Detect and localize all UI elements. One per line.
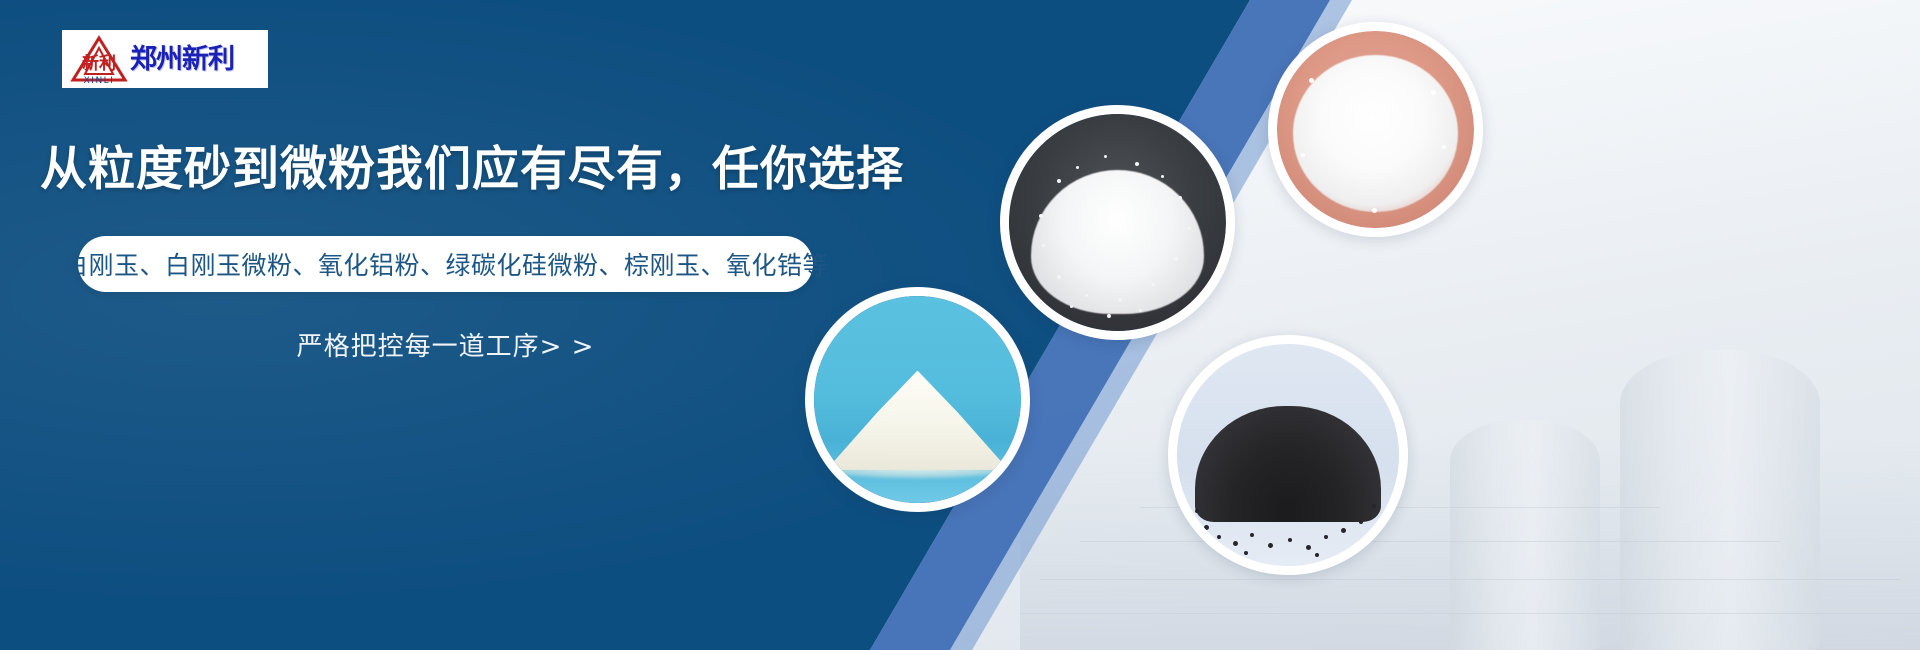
cooling-tower-icon [1620, 350, 1820, 650]
product-image-white-sand [1009, 114, 1226, 331]
headline: 从粒度砂到微粉我们应有尽有，任你选择 [40, 142, 904, 197]
logo-mark-top-text: 新利 [82, 53, 116, 74]
cooling-tower-icon [1450, 420, 1600, 650]
products-pill: 白刚玉、白刚玉微粉、氧化铝粉、绿碳化硅微粉、棕刚玉、氧化锆等 [78, 236, 813, 292]
promo-banner: 新利 XINLI 郑州新利 从粒度砂到微粉我们应有尽有，任你选择 白刚玉、白刚玉… [0, 0, 1920, 650]
company-logo[interactable]: 新利 XINLI 郑州新利 [62, 30, 268, 88]
product-image-powder-cone [814, 296, 1021, 503]
product-circle-powder-cone[interactable] [805, 287, 1030, 512]
ground-line [1020, 613, 1920, 614]
tagline-link[interactable]: 严格把控每一道工序> > [78, 326, 813, 363]
material-pile [1195, 406, 1381, 521]
company-name: 郑州新利 [130, 46, 234, 73]
product-image-white-powder [1277, 31, 1474, 228]
ground-line [1080, 541, 1780, 542]
material-pile [1031, 170, 1205, 313]
material-pile [826, 371, 1008, 470]
product-circle-black-grit[interactable] [1168, 335, 1408, 575]
product-circle-white-sand[interactable] [1000, 105, 1235, 340]
products-pill-text: 白刚玉、白刚玉微粉、氧化铝粉、绿碳化硅微粉、棕刚玉、氧化锆等 [63, 246, 828, 282]
product-image-black-grit [1177, 344, 1399, 566]
logo-mark-bottom-text: XINLI [84, 76, 115, 84]
material-pile [1293, 55, 1458, 213]
ground-line [1040, 579, 1900, 580]
product-circle-white-powder[interactable] [1268, 22, 1483, 237]
xinli-triangle-icon: 新利 XINLI [70, 34, 128, 84]
